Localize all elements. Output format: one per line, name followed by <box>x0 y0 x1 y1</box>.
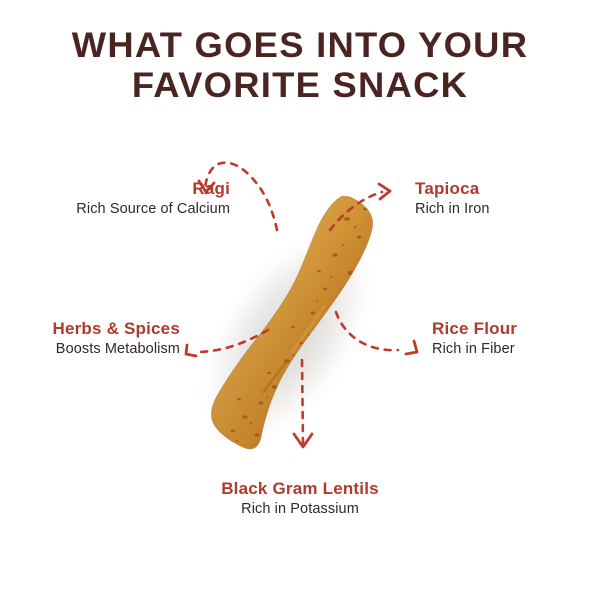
title-line-1: WHAT GOES INTO YOUR <box>0 26 600 66</box>
callout-ragi-title: Ragi <box>20 178 230 199</box>
page-title: WHAT GOES INTO YOUR FAVORITE SNACK <box>0 26 600 106</box>
callout-tapioca-subtitle: Rich in Iron <box>415 199 595 219</box>
callout-black-gram-lentils: Black Gram Lentils Rich in Potassium <box>180 478 420 519</box>
callout-black-gram-lentils-title: Black Gram Lentils <box>180 478 420 499</box>
callout-herbs-and-spices: Herbs & Spices Boosts Metabolism <box>10 318 180 359</box>
title-line-2: FAVORITE SNACK <box>0 66 600 106</box>
infographic-poster: WHAT GOES INTO YOUR FAVORITE SNACK <box>0 0 600 600</box>
callout-tapioca-title: Tapioca <box>415 178 595 199</box>
callout-rice-flour: Rice Flour Rich in Fiber <box>432 318 600 359</box>
callout-rice-flour-title: Rice Flour <box>432 318 600 339</box>
callout-rice-flour-subtitle: Rich in Fiber <box>432 339 600 359</box>
callout-ragi-subtitle: Rich Source of Calcium <box>20 199 230 219</box>
callout-ragi: Ragi Rich Source of Calcium <box>20 178 230 219</box>
snack-chip-illustration <box>175 185 425 460</box>
chip-surface <box>175 185 425 460</box>
callout-tapioca: Tapioca Rich in Iron <box>415 178 595 219</box>
callout-herbs-and-spices-subtitle: Boosts Metabolism <box>10 339 180 359</box>
callout-herbs-and-spices-title: Herbs & Spices <box>10 318 180 339</box>
callout-black-gram-lentils-subtitle: Rich in Potassium <box>180 499 420 519</box>
snack-product-image <box>175 185 425 460</box>
